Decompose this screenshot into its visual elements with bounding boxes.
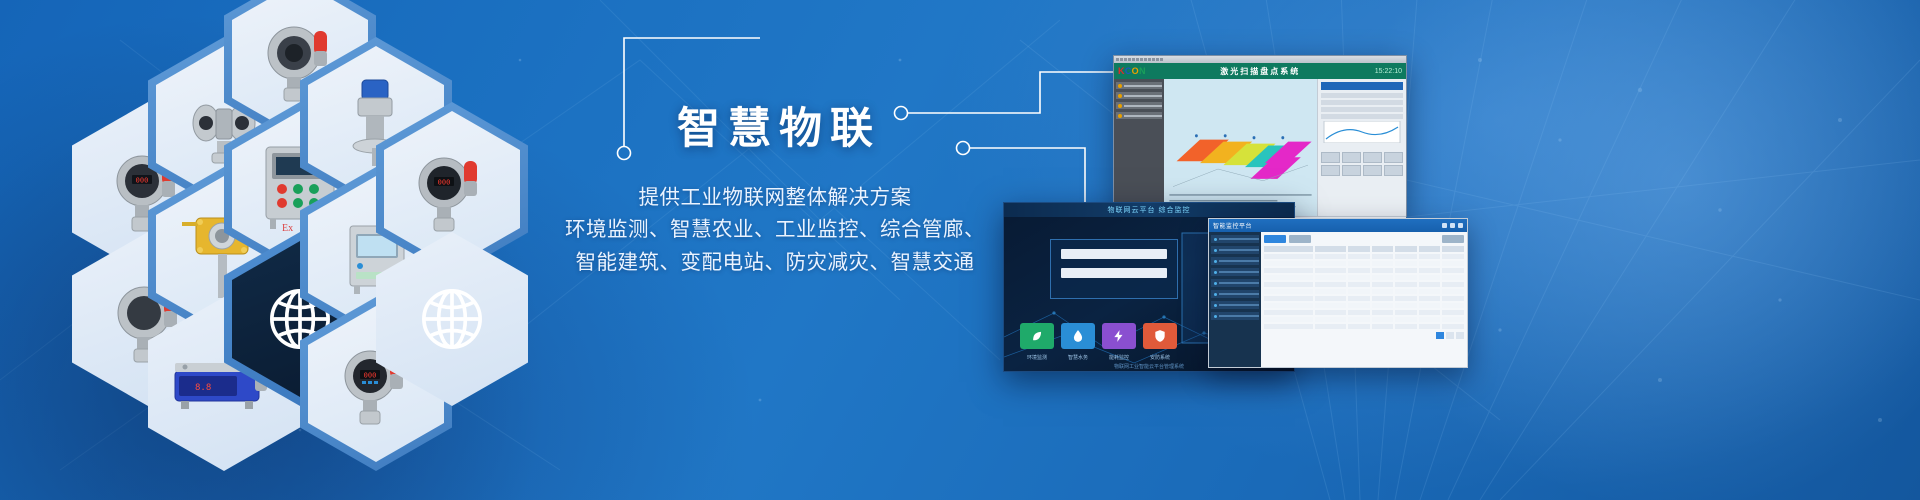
sidebar-item[interactable]	[1116, 102, 1162, 109]
svg-text:8.8: 8.8	[195, 383, 211, 393]
table-row[interactable]	[1264, 275, 1464, 280]
tile-label: 能耗监控	[1102, 354, 1136, 361]
password-field[interactable]	[1061, 268, 1167, 278]
table-pagination[interactable]	[1264, 332, 1464, 339]
sidebar-item[interactable]	[1116, 92, 1162, 99]
environment-tile[interactable]	[1020, 323, 1054, 349]
sidebar-item[interactable]	[1211, 257, 1259, 265]
table-window-sidebar	[1209, 232, 1261, 367]
sidebar-item[interactable]	[1116, 82, 1162, 89]
sidebar-item[interactable]	[1116, 112, 1162, 119]
table-row[interactable]	[1264, 324, 1464, 329]
sidebar-item[interactable]	[1211, 246, 1259, 254]
table-window-titlebar: 智能监控平台	[1209, 219, 1467, 232]
export-button[interactable]	[1442, 235, 1464, 243]
minimize-icon[interactable]	[1442, 223, 1447, 228]
account-field[interactable]	[1061, 249, 1167, 259]
dashboard-header: 物联网云平台 综合监控	[1004, 203, 1294, 217]
panel-heading	[1321, 82, 1403, 90]
table-window-main	[1261, 232, 1467, 367]
sidebar-item[interactable]	[1211, 312, 1259, 320]
query-button[interactable]	[1264, 235, 1286, 243]
banner-subtitle-line-1: 提供工业物联网整体解决方案	[560, 182, 990, 214]
page-2[interactable]	[1446, 332, 1454, 339]
sidebar-item[interactable]	[1211, 268, 1259, 276]
app-clock: 15:22:10	[1375, 68, 1402, 75]
water-tile[interactable]	[1061, 323, 1095, 349]
table-toolbar	[1264, 235, 1464, 243]
svg-text:000: 000	[364, 372, 377, 380]
table-window-body	[1209, 232, 1467, 367]
window-titlebar	[1114, 56, 1406, 63]
table-row[interactable]	[1264, 268, 1464, 273]
table-row[interactable]	[1264, 310, 1464, 315]
svg-text:Ex: Ex	[282, 223, 293, 234]
energy-tile[interactable]	[1102, 323, 1136, 349]
promo-banner: 000	[0, 0, 1920, 500]
kcon-logo: KCON	[1118, 66, 1146, 76]
close-icon[interactable]	[1458, 223, 1463, 228]
tile-label: 环境监测	[1020, 354, 1054, 361]
app-sidebar	[1114, 79, 1164, 216]
maximize-icon[interactable]	[1450, 223, 1455, 228]
page-1[interactable]	[1436, 332, 1444, 339]
security-tile[interactable]	[1143, 323, 1177, 349]
sidebar-item[interactable]	[1211, 279, 1259, 287]
login-card	[1050, 239, 1178, 299]
leaf-icon	[1030, 329, 1044, 343]
monitor-scan-system: KCON 激光扫描盘点系统 15:22:10	[1113, 55, 1407, 217]
panel-sparkline	[1321, 121, 1403, 143]
app-body	[1114, 79, 1406, 216]
table-row[interactable]	[1264, 303, 1464, 308]
table-row[interactable]	[1264, 254, 1464, 259]
banner-text-block: 智慧物联 提供工业物联网整体解决方案 环境监测、智慧农业、工业监控、综合管廊、 …	[560, 108, 990, 279]
app-title: 激光扫描盘点系统	[1146, 66, 1375, 77]
add-button[interactable]	[1289, 235, 1311, 243]
sidebar-item[interactable]	[1211, 290, 1259, 298]
panel-row	[1321, 114, 1403, 119]
app-right-panel	[1317, 79, 1406, 216]
table-row[interactable]	[1264, 296, 1464, 301]
droplet-icon	[1071, 329, 1085, 343]
banner-subtitle-line-2: 环境监测、智慧农业、工业监控、综合管廊、	[560, 214, 990, 246]
tile-label: 安防系统	[1143, 354, 1177, 361]
globe-icon	[415, 282, 489, 356]
panel-row	[1321, 100, 1403, 105]
svg-text:000: 000	[438, 179, 451, 187]
monitoring-table-window: 智能监控平台	[1208, 218, 1468, 368]
heatmap-canvas	[1164, 79, 1317, 216]
tile-label: 智慧水务	[1061, 354, 1095, 361]
app-header: KCON 激光扫描盘点系统 15:22:10	[1114, 63, 1406, 79]
sidebar-item[interactable]	[1211, 235, 1259, 243]
sidebar-item[interactable]	[1211, 301, 1259, 309]
table-row[interactable]	[1264, 261, 1464, 266]
table-row[interactable]	[1264, 317, 1464, 322]
table-header-row	[1264, 246, 1464, 252]
gas-detector-alarm-icon: 000	[404, 141, 500, 237]
table-row[interactable]	[1264, 289, 1464, 294]
page-3[interactable]	[1456, 332, 1464, 339]
table-row[interactable]	[1264, 282, 1464, 287]
bolt-icon	[1112, 329, 1126, 343]
svg-text:000: 000	[136, 177, 149, 185]
banner-subtitle-line-3: 智能建筑、变配电站、防灾减灾、智慧交通	[560, 247, 990, 279]
table-window-title: 智能监控平台	[1213, 221, 1252, 230]
dashboard-tile-labels: 环境监测 智慧水务 能耗监控 安防系统	[1020, 354, 1177, 361]
panel-button-grid[interactable]	[1321, 152, 1403, 176]
dashboard-tiles	[1020, 323, 1177, 349]
banner-title: 智慧物联	[560, 108, 990, 152]
panel-row	[1321, 93, 1403, 98]
panel-row	[1321, 107, 1403, 112]
shield-icon	[1153, 329, 1167, 343]
